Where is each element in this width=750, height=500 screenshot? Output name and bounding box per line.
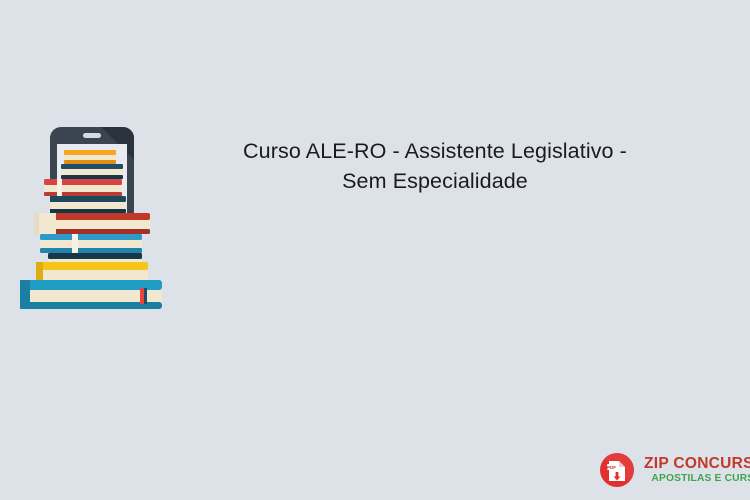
page-title: Curso ALE-RO - Assistente Legislativo - … <box>190 136 680 196</box>
brand-name: ZIP CONCURSOS <box>644 455 750 472</box>
svg-text:PDF: PDF <box>607 465 616 470</box>
brand-tagline: APOSTILAS E CURSOS <box>644 472 750 485</box>
course-title-line-1: Curso ALE-RO - Assistente Legislativo - <box>190 136 680 166</box>
pdf-download-circle-icon: PDF <box>597 450 637 490</box>
brand-logo: PDF ZIP CONCURSOS APOSTILAS E CURSOS <box>597 449 743 491</box>
brand-logo-text: ZIP CONCURSOS APOSTILAS E CURSOS <box>644 455 750 485</box>
course-thumbnail-canvas: Curso ALE-RO - Assistente Legislativo - … <box>0 0 750 500</box>
stack-of-books-and-tablet-illustration <box>12 122 172 312</box>
book-stack-graphic <box>20 150 162 309</box>
course-title-line-2: Sem Especialidade <box>190 166 680 196</box>
